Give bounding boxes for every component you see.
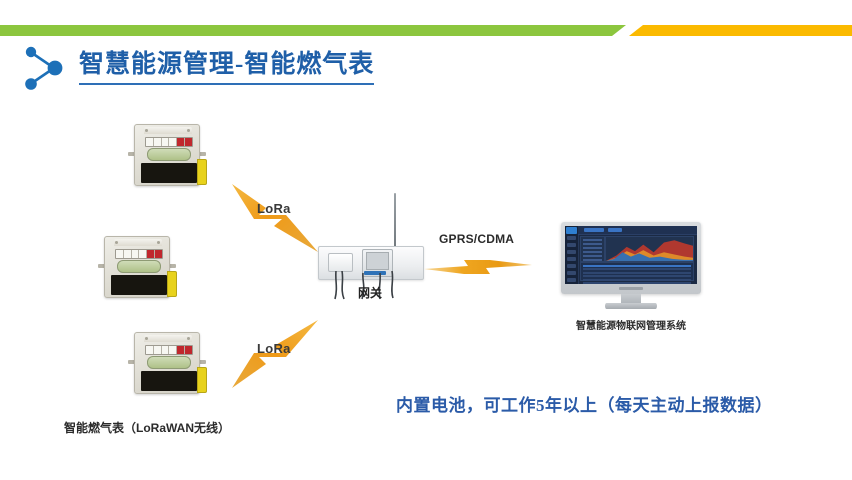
meter-screw [157,241,160,244]
dashboard-data-table [580,262,694,281]
smart-gas-meter-3 [128,332,206,394]
header-bar-green [0,25,626,36]
dashboard-logo [566,227,577,234]
lora-bolt-top-icon [230,182,320,254]
meter-body [134,332,200,394]
meter-index-window [147,356,191,369]
meter-screw [187,129,190,132]
meter-yellow-tab [167,271,177,297]
page-title: 智慧能源管理-智能燃气表 [79,51,374,86]
gateway-power-box [328,253,353,272]
meter-body [134,124,200,186]
lora-gateway-device: 网关 [318,193,426,303]
slide-canvas: 智慧能源管理-智能燃气表 [0,0,852,480]
meter-index-window [147,148,191,161]
battery-note: 内置电池，可工作5年以上（每天主动上报数据） [396,391,773,416]
meter-body [104,236,170,298]
meter-screw [145,337,148,340]
meter-top-band [144,127,192,134]
dashboard-tab [584,228,604,232]
monitor-brand-mark [619,287,643,290]
monitor-caption: 智慧能源物联网管理系统 [549,317,713,332]
management-system-monitor: 智慧能源物联网管理系统 [561,222,701,314]
gprs-cdma-bolt-icon [424,256,534,283]
meter-screw [187,337,190,340]
meter-digit-readout [145,137,193,147]
monitor-bezel [561,222,701,294]
meter-dark-panel [141,371,197,391]
monitor-screen [565,226,697,284]
meter-yellow-tab [197,159,207,185]
dashboard-area-chart [605,236,694,262]
meter-top-band [114,239,162,246]
meter-screw [145,129,148,132]
smart-gas-meter-2 [98,236,176,298]
meter-screw [115,241,118,244]
slide-title-group: 智慧能源管理-智能燃气表 [18,42,374,94]
gprs-cdma-label: GPRS/CDMA [439,232,514,246]
gateway-label: 网关 [318,284,422,301]
dashboard-topbar [578,226,697,235]
dashboard-stats-panel [580,236,605,262]
network-node-icon [18,42,70,94]
meter-dark-panel [111,275,167,295]
meter-digit-readout [145,345,193,355]
meters-caption: 智能燃气表（LoRaWAN无线） [64,419,230,436]
meter-index-window [117,260,161,273]
meter-digit-readout [115,249,163,259]
header-bar-orange [629,25,852,36]
smart-gas-meter-1 [128,124,206,186]
meter-top-band [144,335,192,342]
meter-dark-panel [141,163,197,183]
gateway-module-face [366,252,389,270]
monitor-stand-base [605,303,657,309]
meter-yellow-tab [197,367,207,393]
dashboard-sidebar [565,226,579,284]
dashboard-tab [608,228,622,232]
lora-bolt-top-label: LoRa [257,201,291,216]
lora-bolt-bottom-label: LoRa [257,341,291,356]
